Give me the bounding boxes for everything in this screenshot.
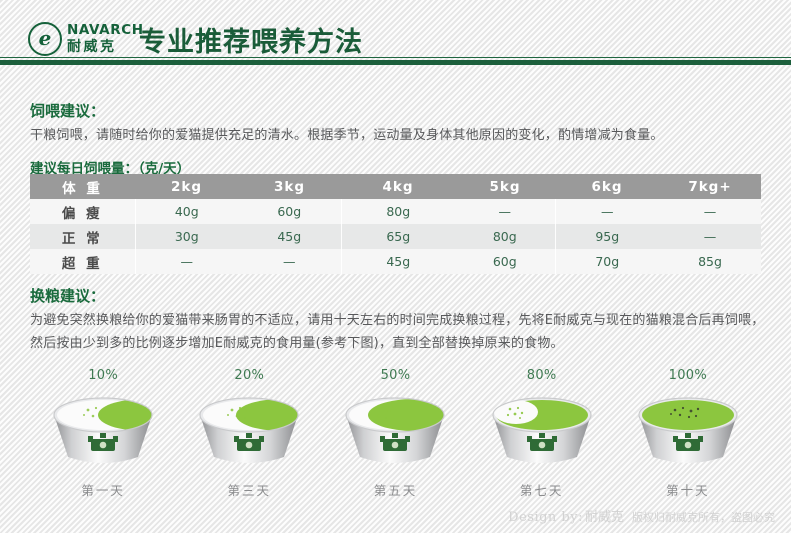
footer-brand: 耐威克 (585, 506, 624, 525)
bowl-percent-label: 50% (381, 368, 411, 383)
table-cell: — (455, 199, 555, 224)
bowl-item: 10% (33, 368, 173, 499)
bowl-day-label: 第三天 (228, 480, 272, 499)
food-bowl-icon (330, 389, 460, 471)
swap-description: 为避免突然换粮给你的爱猫带来肠胃的不适应，请用十天左右的时间完成换粮过程，先将E… (30, 309, 775, 355)
table-header-row: 体 重 2kg 3kg 4kg 5kg 6kg 7kg+ (30, 174, 761, 199)
table-header-cell: 6kg (555, 174, 659, 199)
bowl-item: 20% (179, 368, 319, 499)
bowl-item: 50% (325, 368, 465, 499)
table-header-cell: 体 重 (30, 174, 135, 199)
table-row: 偏 瘦 40g 60g 80g — — — (30, 199, 761, 224)
table-cell: 45g (341, 249, 455, 274)
bowl-day-label: 第一天 (81, 480, 125, 499)
header-rule-thick (0, 60, 791, 65)
food-bowl-icon (477, 389, 607, 471)
bowl-day-label: 第七天 (520, 480, 564, 499)
table-cell: — (135, 249, 238, 274)
table-cell: 45g (238, 224, 341, 249)
table-cell: 30g (135, 224, 238, 249)
bowl-percent-label: 10% (88, 368, 118, 383)
table-cell: 40g (135, 199, 238, 224)
food-bowl-icon (184, 389, 314, 471)
feeding-amount-table: 体 重 2kg 3kg 4kg 5kg 6kg 7kg+ 偏 瘦 40g 60g… (30, 174, 761, 274)
food-bowl-icon (623, 389, 753, 471)
feeding-description: 干粮饲喂，请随时给你的爱猫提供充足的清水。根据季节，运动量及身体其他原因的变化，… (30, 124, 775, 147)
bowl-percent-label: 100% (669, 368, 707, 383)
table-cell: 70g (555, 249, 659, 274)
swap-section-title: 换粮建议： (30, 285, 105, 306)
navarch-logo-icon: e (28, 22, 62, 56)
bowl-percent-label: 80% (527, 368, 557, 383)
table-cell: 85g (659, 249, 761, 274)
table-header-cell: 7kg+ (659, 174, 761, 199)
table-row: 正 常 30g 45g 65g 80g 95g — (30, 224, 761, 249)
logo-glyph: e (39, 28, 52, 48)
table-cell: 80g (455, 224, 555, 249)
table-row-label: 正 常 (30, 224, 135, 249)
transition-bowls: 10% (30, 368, 761, 488)
bowl-percent-label: 20% (234, 368, 264, 383)
footer-design-by: Design by: (508, 510, 583, 525)
table-row-label: 超 重 (30, 249, 135, 274)
table-cell: — (238, 249, 341, 274)
table-header-cell: 5kg (455, 174, 555, 199)
brand-name-cn: 耐威克 (67, 40, 144, 54)
brand-name-en: NAVARCH (67, 24, 144, 38)
food-bowl-icon (38, 389, 168, 471)
table-cell: 60g (455, 249, 555, 274)
feeding-section-title: 饲喂建议： (30, 100, 105, 121)
header-rule-thin (0, 57, 791, 58)
table-cell: — (659, 199, 761, 224)
brand-logo-text: NAVARCH 耐威克 (67, 24, 144, 54)
page-header: e NAVARCH 耐威克 专业推荐喂养方法 (0, 0, 791, 60)
table-cell: 80g (341, 199, 455, 224)
brand-logo: e NAVARCH 耐威克 (28, 22, 144, 56)
table-row: 超 重 — — 45g 60g 70g 85g (30, 249, 761, 274)
bowl-item: 100% (618, 368, 758, 499)
table-cell: 60g (238, 199, 341, 224)
bowl-day-label: 第十天 (666, 480, 710, 499)
table-header-cell: 3kg (238, 174, 341, 199)
table-row-label: 偏 瘦 (30, 199, 135, 224)
table-cell: — (659, 224, 761, 249)
table-header-cell: 2kg (135, 174, 238, 199)
table-cell: — (555, 199, 659, 224)
table-header-cell: 4kg (341, 174, 455, 199)
page-title: 专业推荐喂养方法 (139, 20, 363, 59)
table-cell: 65g (341, 224, 455, 249)
bowl-item: 80% (472, 368, 612, 499)
table-cell: 95g (555, 224, 659, 249)
page-root: e NAVARCH 耐威克 专业推荐喂养方法 饲喂建议： 干粮饲喂，请随时给你的… (0, 0, 791, 533)
footer-rights: 版权归耐威克所有，盗图必究 (632, 509, 775, 525)
bowl-day-label: 第五天 (374, 480, 418, 499)
footer-credit: Design by: 耐威克 版权归耐威克所有，盗图必究 (508, 506, 775, 525)
